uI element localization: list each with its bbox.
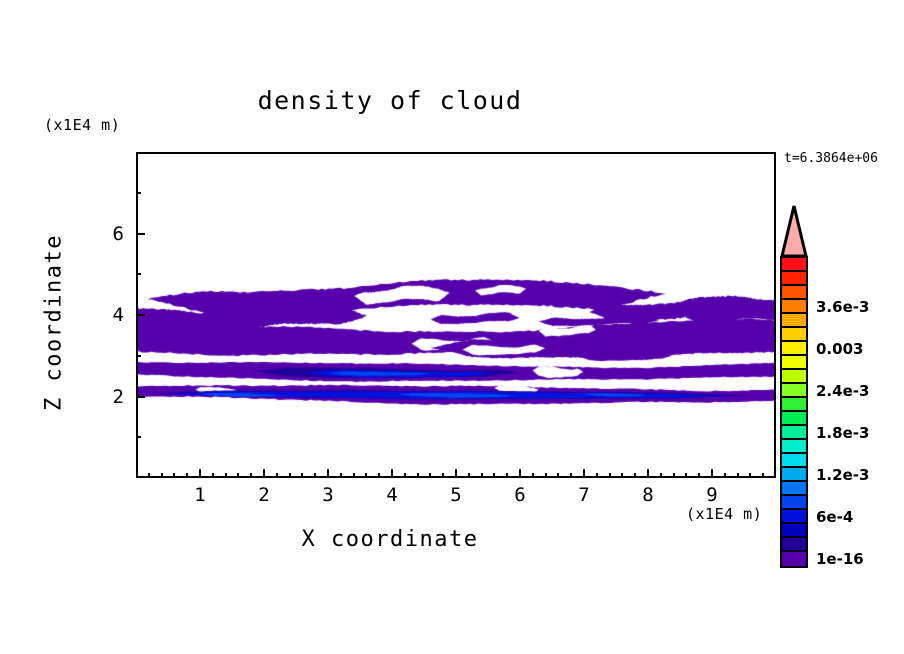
y-tick-minor	[136, 355, 141, 357]
x-tick-label: 7	[578, 484, 589, 506]
x-tick-minor	[442, 473, 444, 478]
x-tick-minor	[276, 473, 278, 478]
colorbar-cell	[782, 258, 806, 272]
y-tick-major	[136, 396, 145, 398]
x-tick-minor	[698, 473, 700, 478]
x-tick-minor	[621, 473, 623, 478]
colorbar-cell	[782, 426, 806, 440]
x-tick-minor	[532, 473, 534, 478]
x-tick-minor	[468, 473, 470, 478]
colorbar-cell	[782, 454, 806, 468]
x-tick-minor	[212, 473, 214, 478]
x-tick-major	[647, 469, 649, 478]
figure-canvas: density of cloud (x1E4 m) (x1E4 m) t=6.3…	[0, 0, 904, 654]
x-tick-label: 8	[642, 484, 653, 506]
y-tick-minor	[136, 192, 141, 194]
x-tick-minor	[186, 473, 188, 478]
colorbar-cell	[782, 412, 806, 426]
contour-field	[138, 154, 774, 476]
colorbar-tick-label: 1e-16	[816, 550, 864, 568]
colorbar-cell	[782, 524, 806, 538]
colorbar-scale	[780, 256, 808, 568]
colorbar-cell	[782, 328, 806, 342]
x-axis-title: X coordinate	[0, 527, 780, 552]
x-tick-minor	[737, 473, 739, 478]
colorbar-cell	[782, 496, 806, 510]
x-tick-minor	[417, 473, 419, 478]
x-tick-label: 4	[386, 484, 397, 506]
colorbar-cell	[782, 510, 806, 524]
x-tick-minor	[404, 473, 406, 478]
x-tick-label: 1	[194, 484, 205, 506]
x-tick-minor	[506, 473, 508, 478]
x-tick-minor	[250, 473, 252, 478]
colorbar-tick-label: 6e-4	[816, 508, 853, 526]
colorbar-cell	[782, 356, 806, 370]
x-tick-label: 9	[706, 484, 717, 506]
x-tick-label: 2	[258, 484, 269, 506]
x-tick-minor	[557, 473, 559, 478]
colorbar-cell	[782, 286, 806, 300]
colorbar-cell	[782, 552, 806, 566]
x-axis-unit-label: (x1E4 m)	[686, 505, 762, 523]
colorbar-cell	[782, 370, 806, 384]
colorbar-cell	[782, 398, 806, 412]
x-tick-minor	[609, 473, 611, 478]
x-tick-minor	[148, 473, 150, 478]
x-tick-major	[519, 469, 521, 478]
x-tick-major	[327, 469, 329, 478]
y-tick-label: 6	[90, 223, 124, 245]
x-tick-minor	[660, 473, 662, 478]
x-tick-minor	[429, 473, 431, 478]
y-axis-unit-label: (x1E4 m)	[44, 116, 120, 134]
x-tick-minor	[225, 473, 227, 478]
x-tick-minor	[493, 473, 495, 478]
y-tick-minor	[136, 436, 141, 438]
colorbar-cell	[782, 468, 806, 482]
x-tick-minor	[545, 473, 547, 478]
x-tick-minor	[161, 473, 163, 478]
colorbar-tick-label: 0.003	[816, 340, 863, 358]
x-tick-minor	[378, 473, 380, 478]
x-tick-major	[199, 469, 201, 478]
x-tick-minor	[724, 473, 726, 478]
x-tick-label: 6	[514, 484, 525, 506]
x-tick-minor	[340, 473, 342, 478]
page-title: density of cloud	[0, 86, 780, 115]
x-tick-minor	[762, 473, 764, 478]
colorbar-cell	[782, 482, 806, 496]
x-tick-minor	[570, 473, 572, 478]
x-tick-minor	[596, 473, 598, 478]
x-tick-minor	[749, 473, 751, 478]
y-tick-label: 2	[90, 386, 124, 408]
x-tick-minor	[481, 473, 483, 478]
x-tick-minor	[289, 473, 291, 478]
y-axis-title: Z coordinate	[42, 223, 67, 423]
x-tick-minor	[634, 473, 636, 478]
x-tick-label: 3	[322, 484, 333, 506]
colorbar-cell	[782, 440, 806, 454]
x-tick-minor	[365, 473, 367, 478]
colorbar-cell	[782, 342, 806, 356]
colorbar-cell	[782, 300, 806, 314]
y-tick-minor	[136, 273, 141, 275]
colorbar-cell	[782, 384, 806, 398]
colorbar-cell	[782, 314, 806, 328]
colorbar-arrow-cap	[780, 204, 808, 258]
x-tick-minor	[353, 473, 355, 478]
x-tick-minor	[673, 473, 675, 478]
time-annotation: t=6.3864e+06	[784, 151, 878, 166]
y-tick-major	[136, 314, 145, 316]
x-tick-minor	[301, 473, 303, 478]
colorbar-tick-label: 3.6e-3	[816, 298, 869, 316]
x-tick-major	[391, 469, 393, 478]
x-tick-minor	[685, 473, 687, 478]
colorbar-tick-label: 2.4e-3	[816, 382, 869, 400]
x-tick-minor	[314, 473, 316, 478]
x-tick-major	[263, 469, 265, 478]
x-tick-label: 5	[450, 484, 461, 506]
y-tick-major	[136, 233, 145, 235]
x-tick-minor	[173, 473, 175, 478]
plot-area	[136, 152, 776, 478]
colorbar-cell	[782, 538, 806, 552]
y-tick-label: 4	[90, 304, 124, 326]
x-tick-minor	[237, 473, 239, 478]
colorbar-cell	[782, 272, 806, 286]
x-tick-major	[583, 469, 585, 478]
colorbar-tick-label: 1.2e-3	[816, 466, 869, 484]
colorbar-tick-label: 1.8e-3	[816, 424, 869, 442]
x-tick-major	[455, 469, 457, 478]
x-tick-major	[711, 469, 713, 478]
